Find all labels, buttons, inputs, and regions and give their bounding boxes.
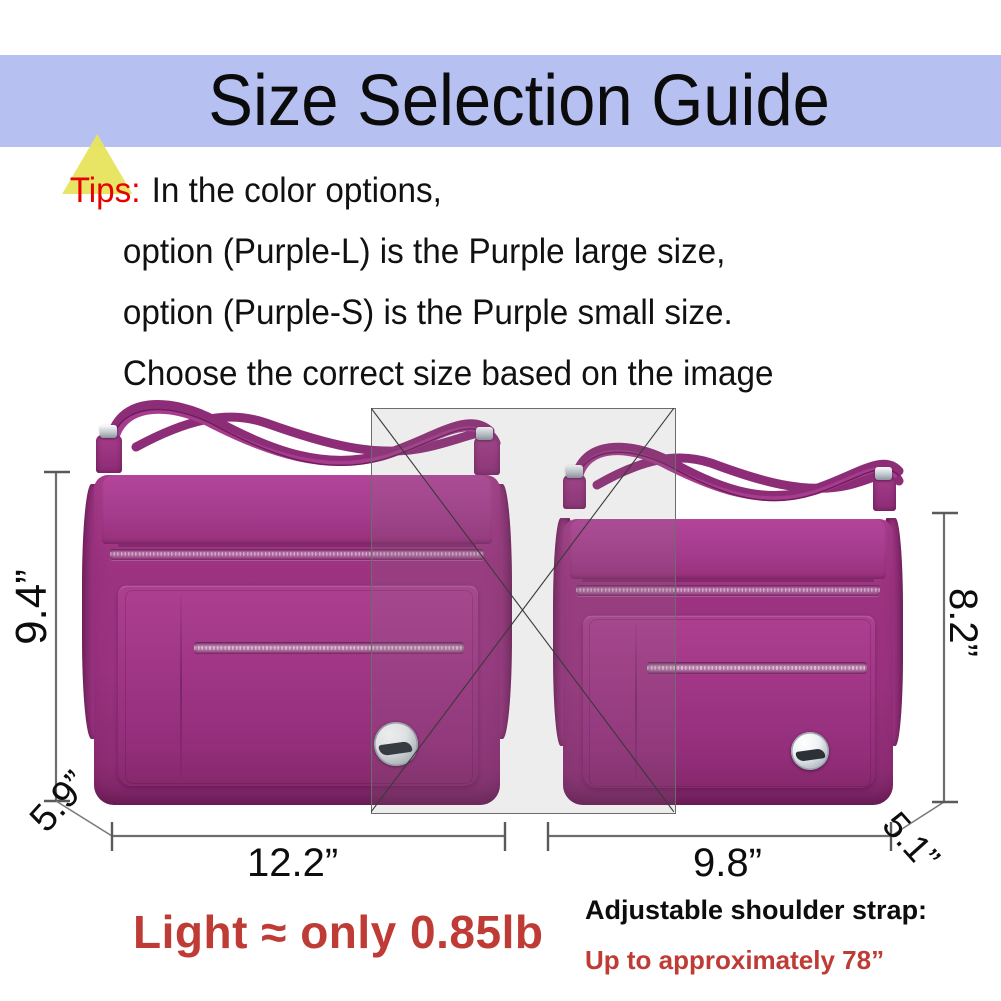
strap-caption: Adjustable shoulder strap: Up to approxi… <box>585 892 985 978</box>
small-bag-top-zipper-pull <box>597 577 616 623</box>
large-bag-strap-anchor-left <box>96 435 122 473</box>
large-bag-top-zipper <box>110 549 484 560</box>
small-bag-body <box>563 519 893 805</box>
large-bag-side-zipper-pull <box>116 625 131 661</box>
tips-line-1: Tips: In the color options, <box>64 160 919 221</box>
small-bag-strap-anchor-right <box>873 477 896 511</box>
large-bag-body <box>94 475 500 805</box>
large-bag-logo-badge <box>374 722 418 766</box>
small-bag-side-zipper-pull <box>581 651 596 687</box>
small-bag-strap-clip-right <box>875 467 892 480</box>
dimension-label-right-height: 8.2” <box>940 588 985 657</box>
small-bag-top-zipper <box>576 585 880 596</box>
dimension-label-left-height: 9.4” <box>7 569 57 645</box>
small-bag-front-zipper <box>647 662 867 674</box>
dimension-label-left-width: 12.2” <box>247 841 338 886</box>
size-guide-page: Size Selection Guide Tips: In the color … <box>0 0 1001 1001</box>
small-bag-strap-anchor-left <box>563 475 586 509</box>
small-bag <box>553 437 903 805</box>
small-bag-pocket-seam <box>635 623 637 781</box>
tips-line-3: option (Purple-S) is the Purple small si… <box>64 282 919 343</box>
tips-label-text: Tips: <box>70 171 141 210</box>
strap-caption-title: Adjustable shoulder strap: <box>585 892 985 928</box>
large-bag-strap-clip-right <box>476 427 493 440</box>
large-bag-pocket-seam <box>180 594 182 778</box>
strap-caption-detail: Up to approximately 78” <box>585 942 985 978</box>
small-bag-front-pocket <box>583 615 875 788</box>
tips-line-2: option (Purple-L) is the Purple large si… <box>64 221 919 282</box>
small-bag-lid <box>570 519 887 579</box>
large-bag-top-zipper-pull <box>134 539 153 585</box>
small-bag-strap-clip-left <box>566 465 583 478</box>
large-bag-lid <box>102 475 492 544</box>
large-bag-front-pocket <box>118 585 478 786</box>
large-bag-strap-anchor-right <box>474 437 500 475</box>
dimension-label-right-width: 9.8” <box>693 841 762 886</box>
small-bag-logo-badge <box>791 732 829 770</box>
large-bag-front-zipper-pull <box>189 631 208 677</box>
tips-block: Tips: In the color options, option (Purp… <box>64 160 964 404</box>
large-bag-strap-clip-left <box>100 425 117 438</box>
tips-label: Tips: <box>68 160 143 221</box>
large-bag <box>82 393 512 805</box>
weight-caption: Light ≈ only 0.85lb <box>133 905 543 959</box>
large-bag-front-zipper <box>194 642 464 654</box>
product-stage <box>0 385 1001 845</box>
small-bag-front-zipper-pull <box>643 655 662 701</box>
page-title: Size Selection Guide <box>35 52 966 150</box>
tips-line-1-text: In the color options, <box>152 171 442 210</box>
